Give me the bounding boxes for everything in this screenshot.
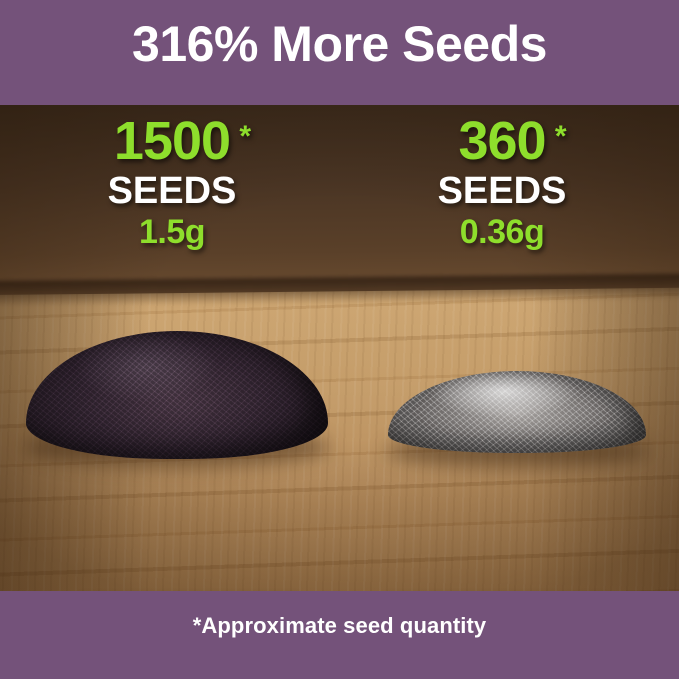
bottom-banner: *Approximate seed quantity	[0, 591, 679, 679]
home-seeds-unit: SEEDS	[22, 171, 322, 211]
top-banner: 316% More Seeds	[0, 0, 679, 105]
headline-text: 316% More Seeds	[0, 14, 679, 74]
other-brand-seed-pile	[378, 363, 658, 473]
home-seed-weight: 1.5g	[22, 213, 322, 251]
stats-overlay: 1500* SEEDS 1.5g 360* SEEDS 0.36g	[0, 113, 679, 283]
other-seed-weight: 0.36g	[352, 213, 652, 251]
other-seed-count-value: 360	[458, 111, 545, 171]
footnote-text: *Approximate seed quantity	[0, 613, 679, 639]
home-asterisk: *	[239, 109, 250, 165]
home-seed-count: 1500*	[114, 113, 230, 169]
product-photo: 1500* SEEDS 1.5g 360* SEEDS 0.36g HOME G…	[0, 95, 679, 595]
home-grown-stats: 1500* SEEDS 1.5g	[22, 113, 322, 251]
other-asterisk: *	[555, 109, 566, 165]
home-seed-count-value: 1500	[114, 111, 230, 171]
home-pile-seed-texture	[26, 331, 328, 459]
product-comparison-poster: 1500* SEEDS 1.5g 360* SEEDS 0.36g HOME G…	[0, 0, 679, 679]
other-seeds-unit: SEEDS	[352, 171, 652, 211]
other-brand-stats: 360* SEEDS 0.36g	[352, 113, 652, 251]
other-pile-seed-texture	[388, 371, 646, 453]
other-seed-count: 360*	[458, 113, 545, 169]
home-grown-seed-pile	[18, 331, 338, 471]
